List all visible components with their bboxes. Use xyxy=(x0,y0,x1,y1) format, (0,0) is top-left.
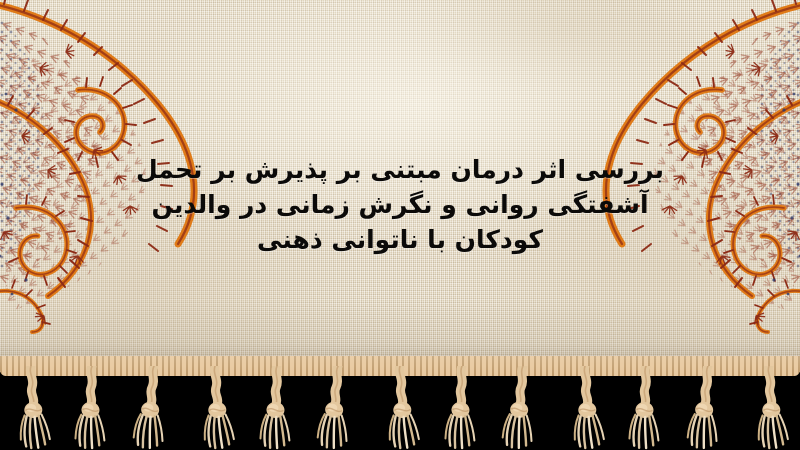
tassel xyxy=(372,366,428,450)
tassel xyxy=(557,366,613,450)
slide-title: بررسی اثر درمان مبتنی بر پذیرش بر تحمل آ… xyxy=(0,152,800,257)
tassel xyxy=(434,366,490,450)
tassel xyxy=(741,366,797,450)
tassel xyxy=(310,366,366,450)
tassel xyxy=(495,366,551,450)
title-line-1: بررسی اثر درمان مبتنی بر پذیرش بر تحمل xyxy=(0,152,800,187)
tassel xyxy=(618,366,674,450)
tassel xyxy=(249,366,305,450)
title-line-3: کودکان با ناتوانی ذهنی xyxy=(0,222,800,257)
tassel-fringe xyxy=(0,366,800,450)
tassel xyxy=(64,366,120,450)
title-line-2: آشفتگی روانی و نگرش زمانی در والدین xyxy=(0,187,800,222)
tassel xyxy=(680,366,736,450)
tassel xyxy=(3,366,59,450)
tassel xyxy=(126,366,182,450)
slide-canvas: بررسی اثر درمان مبتنی بر پذیرش بر تحمل آ… xyxy=(0,0,800,450)
tassel xyxy=(187,366,243,450)
